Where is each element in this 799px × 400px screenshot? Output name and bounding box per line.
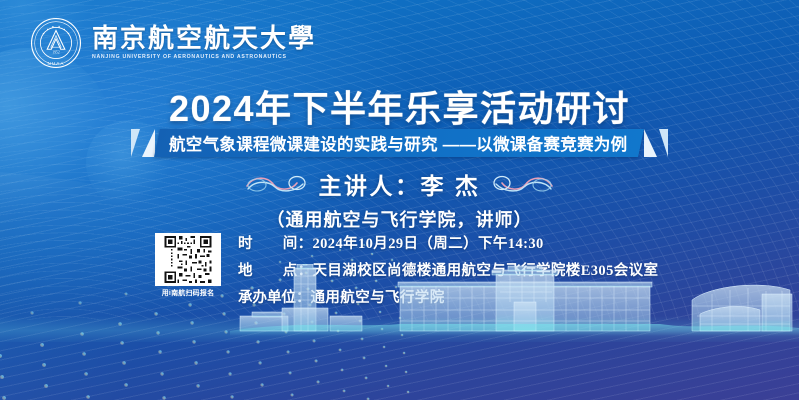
speaker-affiliation: （通用航空与飞行学院，讲师） bbox=[0, 206, 799, 232]
skyline-haze bbox=[0, 316, 799, 342]
qr-caption: 用i南航扫码报名 bbox=[162, 288, 215, 298]
svg-text:1952: 1952 bbox=[52, 50, 59, 54]
brand-lockup: 1952 NUAA 南京航空航天大學 NANJING UNIVERSITY OF… bbox=[30, 17, 316, 69]
info-row-time: 时 间： 2024年10月29日（周二）下午14:30 bbox=[238, 232, 658, 253]
nuaa-seal-icon: 1952 NUAA bbox=[30, 17, 82, 69]
poster-root: 1952 NUAA 南京航空航天大學 NANJING UNIVERSITY OF… bbox=[0, 0, 799, 400]
main-title: 2024年下半年乐享活动研讨 bbox=[0, 80, 799, 132]
info-value-location: 天目湖校区尚德楼通用航空与飞行学院楼E305会议室 bbox=[313, 259, 659, 280]
subtitle-text: 航空气象课程微课建设的实践与研究 ——以微课备赛竞赛为例 bbox=[169, 131, 627, 155]
banner-accent-left bbox=[142, 129, 155, 157]
brand-name-cn: 南京航空航天大學 bbox=[92, 26, 316, 52]
subtitle-banner: 航空气象课程微课建设的实践与研究 ——以微课备赛竞赛为例 bbox=[0, 129, 799, 157]
info-label-organizer: 承办单位： bbox=[238, 286, 311, 307]
event-info-block: 时 间： 2024年10月29日（周二）下午14:30 地 点： 天目湖校区尚德… bbox=[238, 232, 658, 307]
swirl-ornament-icon bbox=[492, 173, 554, 195]
qr-code-icon[interactable] bbox=[155, 233, 221, 286]
info-value-organizer: 通用航空与飞行学院 bbox=[311, 286, 445, 307]
registration-qr-block[interactable]: 用i南航扫码报名 bbox=[155, 233, 221, 298]
banner-bar: 航空气象课程微课建设的实践与研究 ——以微课备赛竞赛为例 bbox=[154, 129, 644, 157]
swirl-ornament-icon bbox=[245, 173, 307, 195]
info-row-location: 地 点： 天目湖校区尚德楼通用航空与飞行学院楼E305会议室 bbox=[238, 259, 658, 280]
speaker-name: 主讲人：李 杰 bbox=[319, 167, 481, 201]
brand-name-en: NANJING UNIVERSITY OF AERONAUTICS AND AS… bbox=[92, 54, 316, 60]
info-label-location: 地 点： bbox=[238, 259, 313, 280]
banner-accent-left-outer bbox=[131, 129, 140, 157]
info-row-organizer: 承办单位： 通用航空与飞行学院 bbox=[238, 286, 658, 307]
banner-accent-right-outer bbox=[659, 129, 668, 157]
info-label-time: 时 间： bbox=[238, 232, 313, 253]
speaker-row: 主讲人：李 杰 bbox=[0, 167, 799, 201]
svg-text:NUAA: NUAA bbox=[47, 61, 64, 66]
info-value-time: 2024年10月29日（周二）下午14:30 bbox=[313, 232, 544, 253]
banner-accent-right bbox=[644, 129, 657, 157]
